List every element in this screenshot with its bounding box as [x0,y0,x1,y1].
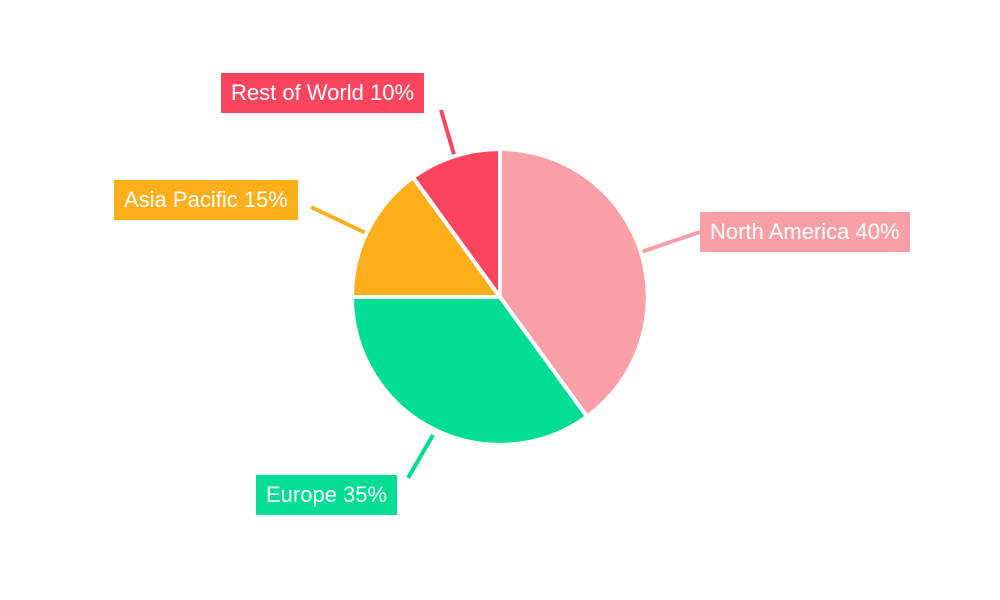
pie-label-rest-of-world[interactable]: Rest of World 10% [221,73,424,113]
leader-line-asia-pacific [311,207,368,234]
pie-label-europe[interactable]: Europe 35% [256,475,397,515]
pie-label-north-america[interactable]: North America 40% [700,212,910,252]
leader-line-rest-of-world [441,110,455,158]
pie-chart-canvas [0,0,1000,600]
pie-chart: North America 40% Europe 35% Asia Pacifi… [0,0,1000,600]
pie-label-rest-of-world-text: Rest of World 10% [231,73,414,113]
leader-line-europe [408,435,433,478]
pie-label-north-america-text: North America 40% [710,212,900,252]
pie-label-asia-pacific-text: Asia Pacific 15% [124,180,288,220]
leader-line-north-america [641,232,700,252]
pie-label-asia-pacific[interactable]: Asia Pacific 15% [114,180,298,220]
pie-label-europe-text: Europe 35% [266,475,387,515]
